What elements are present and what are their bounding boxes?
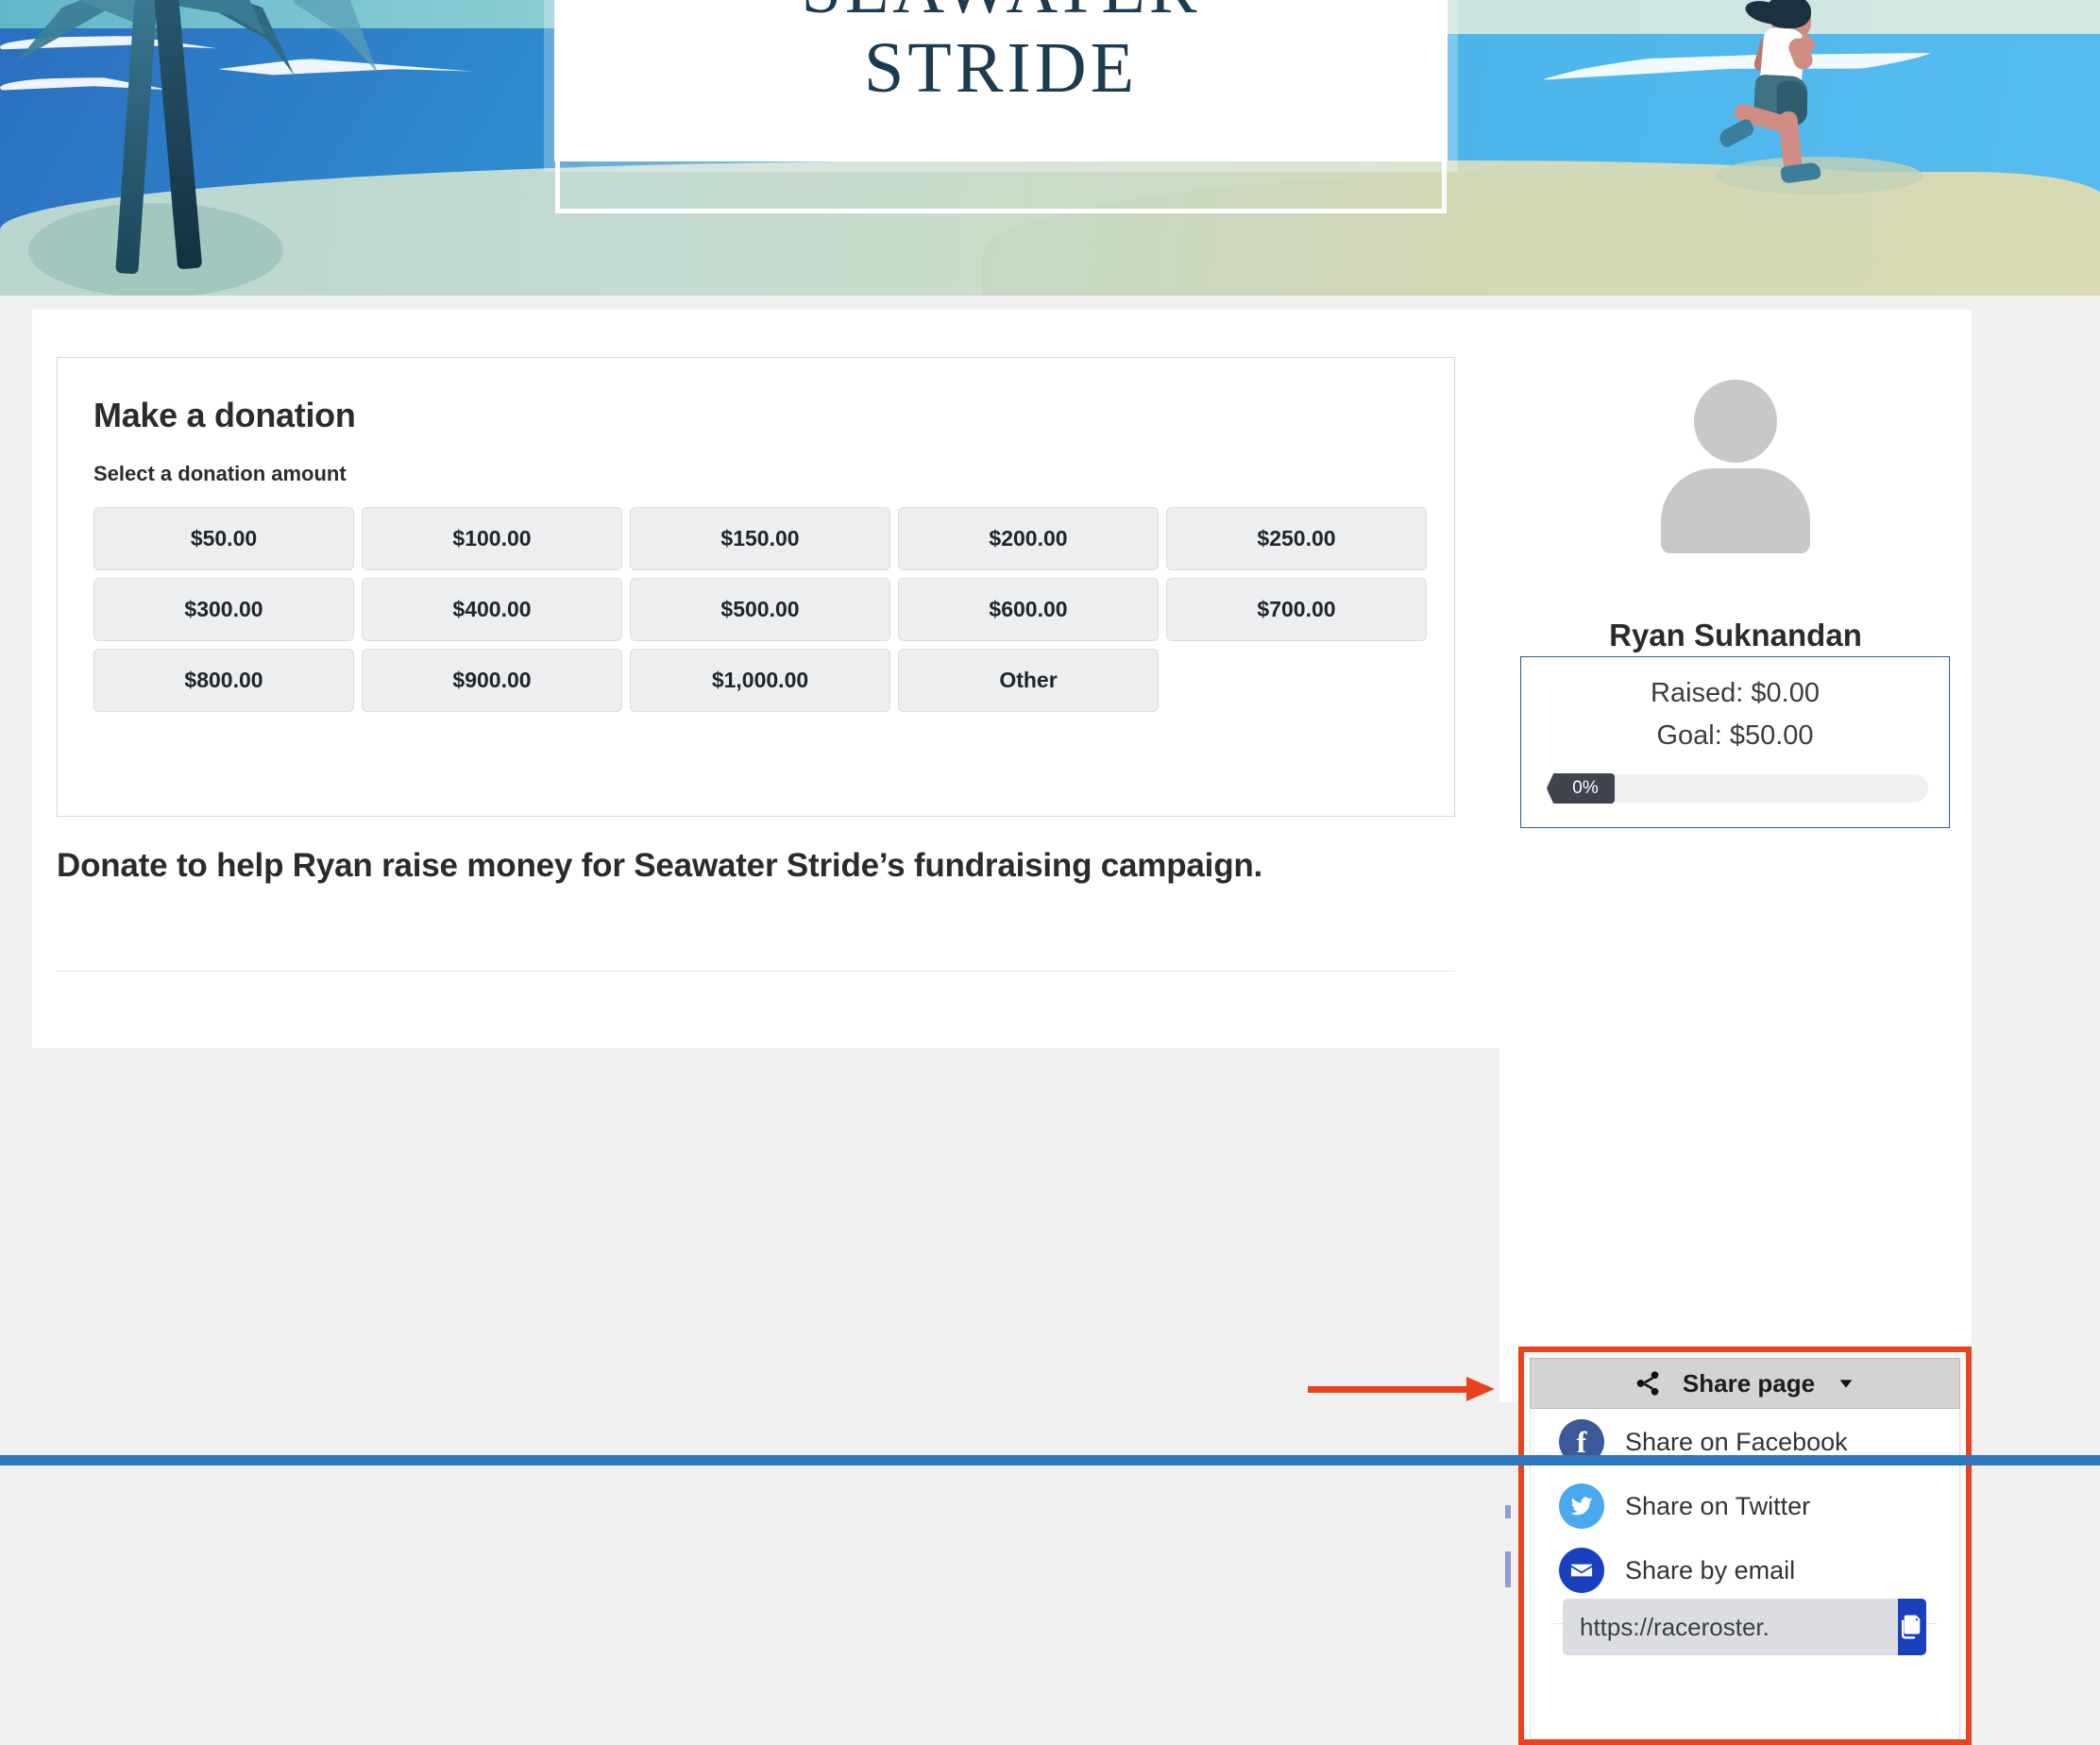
amount-button-800[interactable]: $800.00 — [93, 649, 354, 712]
donation-card: Make a donation Select a donation amount… — [32, 310, 1501, 1048]
runner-back-shoe — [1717, 117, 1756, 149]
share-page-widget: Share page f Share on Facebook Share on … — [1518, 1347, 1972, 1745]
amount-button-250[interactable]: $250.00 — [1166, 507, 1427, 570]
share-url-input[interactable] — [1563, 1599, 1898, 1655]
avatar — [1499, 366, 1972, 593]
fundraiser-name: Ryan Suknandan — [1499, 618, 1972, 653]
share-on-twitter-item[interactable]: Share on Twitter — [1531, 1474, 1959, 1538]
donation-description: Donate to help Ryan raise money for Seaw… — [57, 845, 1464, 888]
amount-button-500[interactable]: $500.00 — [630, 578, 890, 641]
chevron-down-icon — [1836, 1373, 1856, 1394]
progress-bar: 0% — [1547, 774, 1928, 803]
event-title-line-1: SEAWATER — [802, 0, 1201, 26]
runner-hair — [1766, 0, 1811, 28]
amount-button-900[interactable]: $900.00 — [362, 649, 622, 712]
obscured-content — [1505, 1551, 1511, 1587]
share-on-facebook-label: Share on Facebook — [1625, 1428, 1848, 1457]
amount-raised: Raised: $0.00 — [1521, 678, 1949, 709]
share-url-row — [1563, 1599, 1893, 1655]
amount-button-400[interactable]: $400.00 — [362, 578, 622, 641]
copy-icon — [1898, 1613, 1926, 1641]
amount-button-700[interactable]: $700.00 — [1166, 578, 1427, 641]
amount-button-50[interactable]: $50.00 — [93, 507, 354, 570]
page-body: Make a donation Select a donation amount… — [0, 296, 2100, 1465]
runner-illustration — [1671, 0, 1907, 230]
donation-amount-grid: $50.00 $100.00 $150.00 $200.00 $250.00 $… — [93, 507, 1425, 712]
amount-button-600[interactable]: $600.00 — [898, 578, 1159, 641]
twitter-icon — [1559, 1483, 1604, 1529]
amount-label: Select a donation amount — [93, 462, 1454, 486]
divider — [57, 971, 1455, 972]
copy-url-button[interactable] — [1898, 1599, 1926, 1655]
amount-button-100[interactable]: $100.00 — [362, 507, 622, 570]
runner-fist — [1798, 36, 1815, 53]
event-title-line-2: STRIDE — [864, 32, 1138, 106]
email-icon — [1559, 1548, 1604, 1593]
share-by-email-item[interactable]: Share by email — [1531, 1538, 1959, 1602]
share-page-button[interactable]: Share page — [1530, 1358, 1960, 1409]
share-on-twitter-label: Share on Twitter — [1625, 1492, 1810, 1521]
amount-button-other[interactable]: Other — [898, 649, 1159, 712]
fundraising-goal: Goal: $50.00 — [1521, 720, 1949, 752]
amount-button-1000[interactable]: $1,000.00 — [630, 649, 890, 712]
footer-bar — [0, 1455, 2100, 1465]
annotation-arrow-icon — [1308, 1377, 1511, 1401]
avatar-head-icon — [1694, 380, 1777, 463]
share-page-button-label: Share page — [1683, 1369, 1815, 1398]
fundraiser-sidebar: Ryan Suknandan Raised: $0.00 Goal: $50.0… — [1499, 310, 1972, 1402]
page-title: Make a donation — [93, 396, 1454, 435]
avatar-body-icon — [1661, 468, 1810, 553]
event-title-plaque: SEAWATER STRIDE — [557, 0, 1445, 159]
fundraising-goal-box: Raised: $0.00 Goal: $50.00 0% — [1520, 656, 1950, 828]
palm-shadow — [28, 203, 283, 296]
amount-button-200[interactable]: $200.00 — [898, 507, 1159, 570]
share-icon — [1634, 1369, 1662, 1398]
donation-panel: Make a donation Select a donation amount… — [57, 357, 1455, 817]
share-by-email-label: Share by email — [1625, 1556, 1795, 1585]
progress-percent-badge: 0% — [1547, 773, 1615, 804]
amount-button-300[interactable]: $300.00 — [93, 578, 354, 641]
obscured-content — [1505, 1505, 1511, 1518]
event-banner: SEAWATER STRIDE — [0, 0, 2100, 296]
amount-button-150[interactable]: $150.00 — [630, 507, 890, 570]
